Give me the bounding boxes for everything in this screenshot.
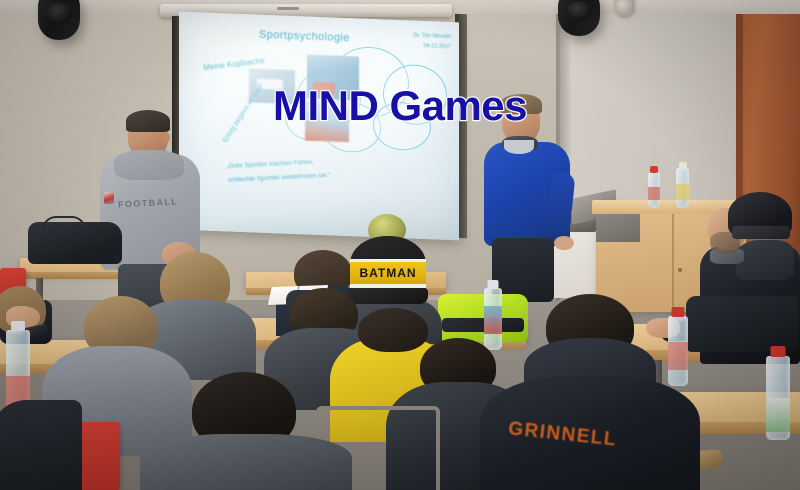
water-bottle-right-2 (766, 356, 790, 440)
beanie-brim (732, 226, 790, 239)
seated-attendee-bottom-left (0, 400, 80, 490)
black-sports-bag (28, 222, 122, 264)
blue-man-neckline (504, 140, 534, 154)
attendee-hood (736, 240, 794, 280)
presenter-ear (162, 132, 170, 143)
overlay-headline: MIND Games (0, 82, 800, 130)
dark-jacket-on-table (686, 296, 798, 352)
slide-title: Sportpsychologie (259, 29, 350, 44)
ceiling-speaker-left-icon (38, 0, 80, 40)
presenter-hood (114, 150, 184, 180)
bottle-cap (11, 321, 25, 331)
slide-corner-info: Dr. Tim Wendel 04.12.2017 (414, 31, 452, 53)
slide-quote-line-2: schlechte Sportler wiederholen sie.“ (227, 169, 331, 188)
bottle-cap (650, 166, 658, 173)
slide-quote-line-1: „Gute Sportler machen Fehler, (226, 155, 330, 174)
seated-attendee-orange-print-hoodie: GRINNELL (494, 294, 684, 490)
counter-side-panel (596, 212, 640, 242)
water-bottle-counter-1 (648, 172, 660, 208)
classroom-photo: Sportpsychologie Dr. Tim Wendel 04.12.20… (0, 0, 800, 490)
speaker-cone (46, 3, 72, 24)
slide-quote: „Gute Sportler machen Fehler, schlechte … (226, 155, 331, 187)
bottle-label (766, 398, 790, 432)
slide-corner-line-2: 04.12.2017 (414, 41, 452, 53)
speaker-cone (566, 2, 592, 21)
blue-man-hand (554, 236, 574, 250)
attendee-shoulders (0, 400, 82, 490)
bottle-cap (679, 162, 687, 169)
water-bottle-counter-2 (676, 168, 689, 208)
hoodie-patch (104, 192, 114, 204)
slide-label-left: Meine Kopfsache (203, 56, 265, 72)
seated-attendee-front-center (150, 372, 340, 490)
bottle-cap (771, 346, 786, 357)
bottle-label (676, 184, 689, 200)
beanie-text: BATMAN (350, 263, 426, 283)
bottle-cap (488, 280, 499, 289)
counter-knob (678, 268, 682, 272)
attendee-shoulders (140, 434, 352, 490)
bottle-label (648, 187, 660, 200)
slide-corner-line-1: Dr. Tim Wendel (414, 31, 452, 43)
